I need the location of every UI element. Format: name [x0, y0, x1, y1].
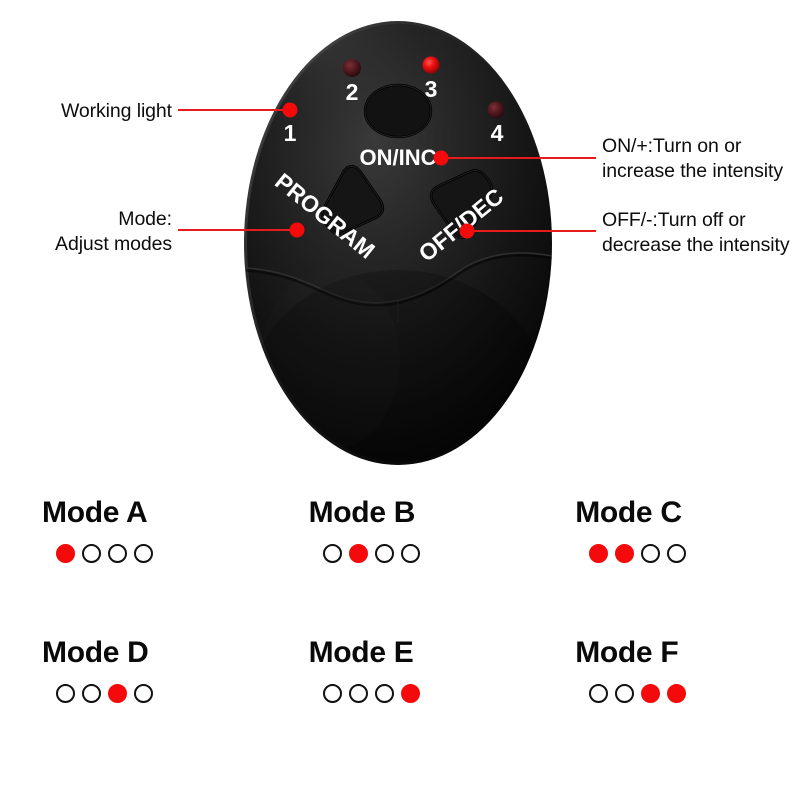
mode-dot-3-on: [641, 684, 660, 703]
mode-cell-d: Mode D: [0, 638, 267, 778]
led-2-indicator: [343, 59, 361, 77]
mode-row-top: Mode A Mode B Mode C: [0, 498, 800, 638]
mode-cell-a: Mode A: [0, 498, 267, 638]
mode-dot-3-off: [375, 544, 394, 563]
led-4-indicator: [488, 102, 505, 119]
led-2-number: 2: [346, 79, 359, 105]
callout-on-increase: ON/+:Turn on or increase the intensity: [602, 134, 800, 184]
callout-off-decrease: OFF/-:Turn off or decrease the intensity: [602, 208, 800, 258]
mode-dot-4-on: [401, 684, 420, 703]
mode-dot-1-on: [56, 544, 75, 563]
mode-b-dots: [309, 544, 420, 563]
mode-d-dots: [42, 684, 153, 703]
mode-dot-1-off: [323, 684, 342, 703]
mode-dot-1-on: [589, 544, 608, 563]
mode-b-title: Mode B: [309, 498, 416, 528]
mode-dot-3-off: [375, 684, 394, 703]
product-diagram-page: 2 3 4 1 ON/INC PROGRAM OFF/DEC: [0, 0, 800, 800]
mode-a-title: Mode A: [42, 498, 147, 528]
anchor-dot-working-light: [283, 103, 298, 118]
mode-dot-1-off: [56, 684, 75, 703]
mode-e-title: Mode E: [309, 638, 414, 668]
mode-f-dots: [575, 684, 686, 703]
mode-dot-1-off: [323, 544, 342, 563]
mode-f-title: Mode F: [575, 638, 678, 668]
mode-cell-b: Mode B: [267, 498, 534, 638]
callout-working-light: Working light: [0, 99, 172, 124]
mode-dot-2-off: [615, 684, 634, 703]
mode-dot-4-off: [401, 544, 420, 563]
mode-dot-2-on: [349, 544, 368, 563]
mode-cell-f: Mode F: [533, 638, 800, 778]
mode-dot-4-off: [134, 684, 153, 703]
mode-dot-4-on: [667, 684, 686, 703]
led-4-number: 4: [491, 120, 504, 146]
mode-dot-2-off: [82, 684, 101, 703]
mode-row-bottom: Mode D Mode E Mode F: [0, 638, 800, 778]
led-3-number: 3: [425, 76, 438, 102]
mode-a-dots: [42, 544, 153, 563]
mode-dot-4-off: [134, 544, 153, 563]
mode-dot-3-on: [108, 684, 127, 703]
mode-dot-2-off: [82, 544, 101, 563]
device-illustration: 2 3 4 1 ON/INC PROGRAM OFF/DEC: [0, 0, 800, 480]
mode-c-title: Mode C: [575, 498, 682, 528]
mode-dot-2-off: [349, 684, 368, 703]
mode-dot-2-on: [615, 544, 634, 563]
device-body: [210, 0, 552, 480]
mode-e-dots: [309, 684, 420, 703]
anchor-dot-on-inc: [434, 151, 449, 166]
mode-d-title: Mode D: [42, 638, 149, 668]
anchor-dot-mode: [290, 223, 305, 238]
mode-c-dots: [575, 544, 686, 563]
mode-dot-1-off: [589, 684, 608, 703]
anchor-dot-off-dec: [460, 224, 475, 239]
mode-dot-4-off: [667, 544, 686, 563]
on-inc-label: ON/INC: [360, 145, 437, 170]
callout-mode-adjust: Mode: Adjust modes: [0, 207, 172, 257]
mode-legend: Mode A Mode B Mode C Mode D Mode E: [0, 498, 800, 800]
mode-cell-c: Mode C: [533, 498, 800, 638]
mode-cell-e: Mode E: [267, 638, 534, 778]
led-1-number: 1: [284, 120, 297, 146]
mode-dot-3-off: [641, 544, 660, 563]
led-3-indicator: [423, 57, 440, 74]
mode-dot-3-off: [108, 544, 127, 563]
